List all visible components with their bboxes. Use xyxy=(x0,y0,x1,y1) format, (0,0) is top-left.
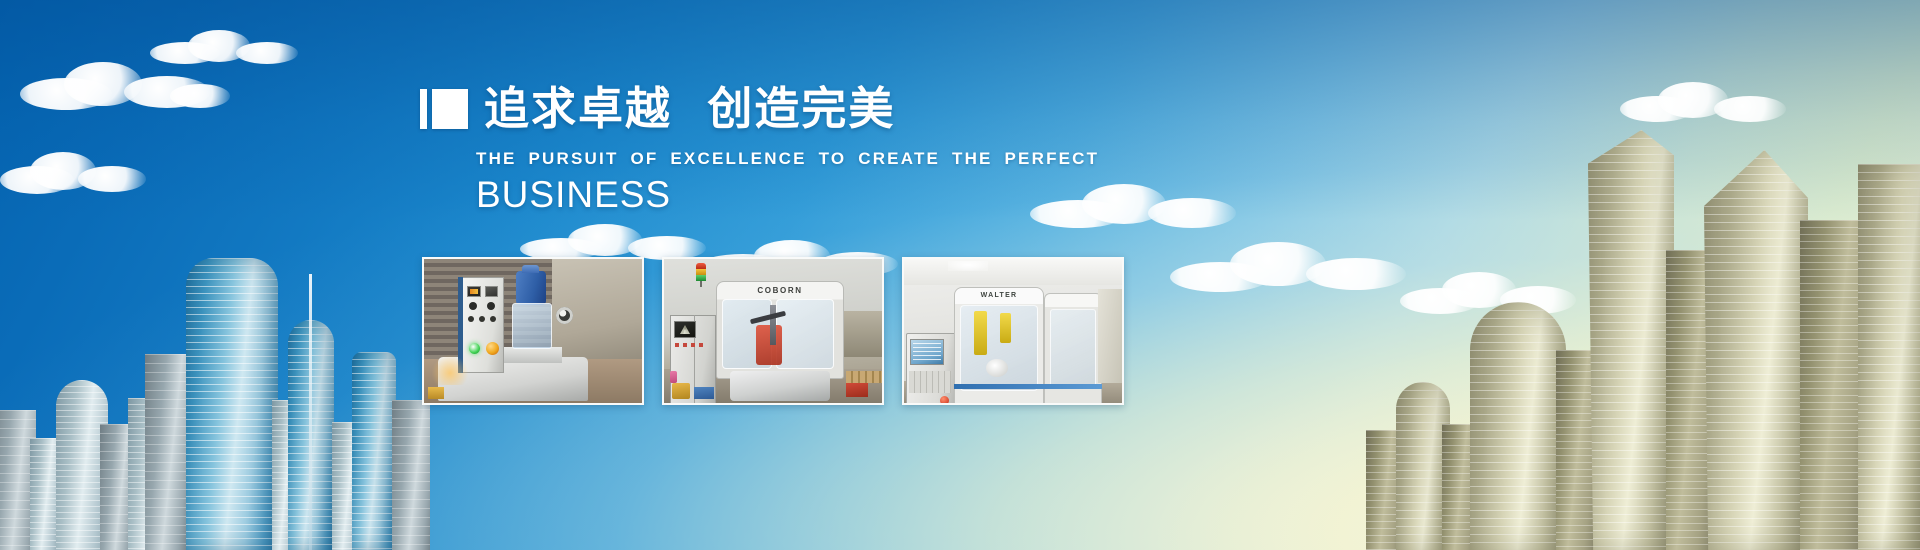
yellow-fixture xyxy=(974,311,987,355)
knob-icon xyxy=(487,302,495,310)
secondary-gauge xyxy=(485,286,498,297)
logo-square-icon xyxy=(432,89,468,129)
secondary-window xyxy=(1050,309,1096,387)
hmi-screen-glyph xyxy=(470,289,478,294)
console-screen-lines xyxy=(913,343,941,361)
machine-pedestal xyxy=(730,371,830,401)
yellow-box xyxy=(428,387,444,399)
ceiling-strip xyxy=(904,259,1122,285)
coborn-brand-text: COBORN xyxy=(757,286,802,295)
internal-workpiece xyxy=(986,359,1008,377)
spindle-guard-clear xyxy=(512,303,552,349)
stack-light-green xyxy=(696,275,706,281)
photo-coborn-rotary-machine[interactable]: COBORN xyxy=(662,257,884,405)
internal-tooling-red xyxy=(756,325,782,365)
machine-brand-label: WALTER xyxy=(954,289,1044,301)
banner-content: 追求卓越 创造完美 THE PURSUIT OF EXCELLENCE TO C… xyxy=(420,86,1140,215)
button-icon xyxy=(468,316,474,322)
product-photo-gallery: COBORN xyxy=(422,257,1124,405)
power-indicator-green xyxy=(469,343,480,354)
building-silhouette-round-tower xyxy=(1470,302,1566,550)
console-emergency-button xyxy=(940,396,949,405)
spindle-cap xyxy=(522,265,539,273)
red-crate xyxy=(846,383,868,397)
button-icon xyxy=(490,316,496,322)
ceiling-lamp xyxy=(948,261,988,271)
antenna-spire-icon xyxy=(309,274,312,550)
button-icon xyxy=(479,316,485,322)
cabinet-indicator-row xyxy=(675,343,705,347)
handwheel-icon xyxy=(556,307,573,324)
wall-cabinet-right xyxy=(1098,289,1122,383)
wood-pallet xyxy=(846,371,882,383)
walter-brand-text: WALTER xyxy=(981,292,1018,299)
internal-spindle xyxy=(770,305,776,345)
building-silhouette xyxy=(1858,164,1920,550)
yellow-container xyxy=(672,383,690,399)
building-silhouette xyxy=(352,352,396,550)
building-silhouette xyxy=(145,354,187,550)
knob-icon xyxy=(469,302,477,310)
headline-row: 追求卓越 创造完美 xyxy=(420,86,1140,131)
machine-brand-label: COBORN xyxy=(716,283,844,297)
logo-bar-icon xyxy=(420,89,427,129)
machine-base-blue-stripe xyxy=(954,384,1102,389)
pink-bottle xyxy=(670,371,677,383)
warm-light-glow xyxy=(432,355,468,385)
headline-chinese: 追求卓越 创造完美 xyxy=(484,86,895,131)
cityscape-right xyxy=(1360,90,1920,550)
cityscape-left xyxy=(0,230,430,550)
photo-walter-tool-grinder[interactable]: WALTER xyxy=(902,257,1124,405)
yellow-fixture xyxy=(1000,313,1011,343)
brand-logo-mark xyxy=(420,89,468,129)
enclosure-window-right xyxy=(776,299,834,369)
building-silhouette xyxy=(392,400,430,550)
blue-bin xyxy=(694,387,714,399)
spindle-housing-blue xyxy=(516,271,546,305)
building-silhouette-tall-tower xyxy=(1588,130,1674,550)
business-word: BUSINESS xyxy=(476,176,1140,215)
console-keypad xyxy=(909,371,951,393)
subtitle-english: THE PURSUIT OF EXCELLENCE TO CREATE THE … xyxy=(476,149,1140,169)
building-silhouette-tall-tower xyxy=(1704,150,1808,550)
emergency-stop-button xyxy=(486,342,499,355)
hero-banner: 追求卓越 创造完美 THE PURSUIT OF EXCELLENCE TO C… xyxy=(0,0,1920,550)
photo-cnc-grinder-control-panel[interactable] xyxy=(422,257,644,405)
building-silhouette-main-tower xyxy=(186,258,278,550)
enclosure-window xyxy=(960,305,1038,391)
